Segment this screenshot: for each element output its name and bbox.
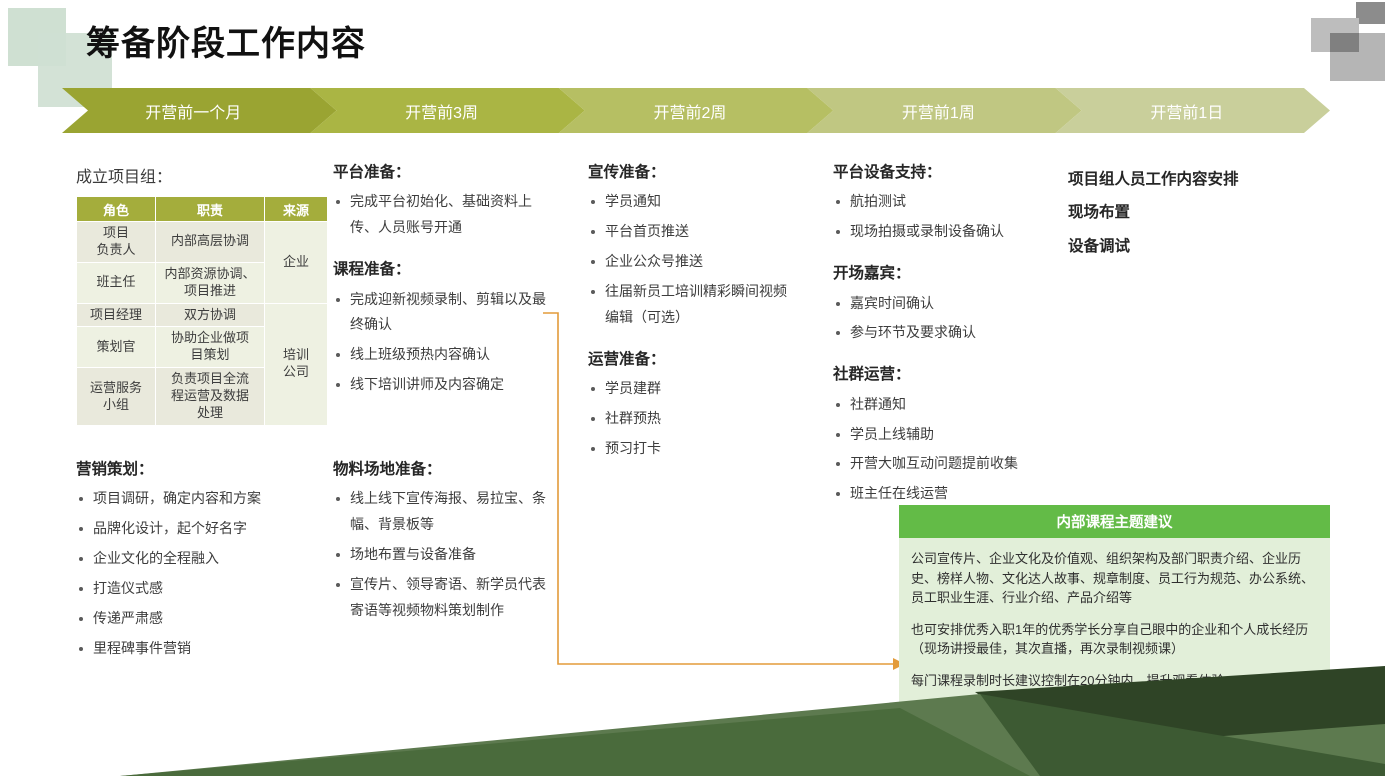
community-ops-item: 开营大咖互动问题提前收集: [833, 451, 1063, 477]
page-title: 筹备阶段工作内容: [86, 16, 366, 65]
callout-header: 内部课程主题建议: [899, 505, 1330, 538]
section-heading-project-team: 成立项目组：: [76, 163, 172, 187]
course-prep-item: 线下培训讲师及内容确定: [333, 372, 548, 398]
material-venue-list: 线上线下宣传海报、易拉宝、条幅、背景板等场地布置与设备准备宣传片、领导寄语、新学…: [333, 486, 548, 623]
section-heading-community-ops: 社群运营：: [833, 365, 1063, 384]
table-cell-duty: 内部资源协调、项目推进: [156, 262, 265, 303]
equipment-support-block: 平台设备支持： 航拍测试现场拍摄或录制设备确认 开场嘉宾： 嘉宾时间确认参与环节…: [833, 163, 1063, 511]
mountain-fore: [120, 708, 1030, 776]
marketing-list: 项目调研，确定内容和方案品牌化设计，起个好名字企业文化的全程融入打造仪式感传递严…: [76, 486, 326, 661]
marketing-item: 项目调研，确定内容和方案: [76, 486, 326, 512]
community-ops-item: 学员上线辅助: [833, 422, 1063, 448]
material-venue-item: 线上线下宣传海报、易拉宝、条幅、背景板等: [333, 486, 548, 538]
decor-square-gray-overlap: [1330, 33, 1359, 52]
community-ops-list: 社群通知学员上线辅助开营大咖互动问题提前收集班主任在线运营: [833, 392, 1063, 508]
equipment-support-item: 航拍测试: [833, 189, 1063, 215]
section-heading-equipment-support: 平台设备支持：: [833, 163, 1063, 182]
opening-guest-item: 参与环节及要求确认: [833, 320, 1063, 346]
section-heading-ops-prep: 运营准备：: [588, 350, 793, 369]
project-team-table: 角色职责来源 项目负责人内部高层协调企业班主任内部资源协调、项目推进项目经理双方…: [76, 196, 328, 426]
promotion-prep-item: 平台首页推送: [588, 219, 793, 245]
table-cell-source: 培训公司: [265, 303, 328, 425]
ops-prep-item: 学员建群: [588, 376, 793, 402]
marketing-block: 营销策划： 项目调研，确定内容和方案品牌化设计，起个好名字企业文化的全程融入打造…: [76, 460, 326, 666]
timeline-step-5[interactable]: 开营前1日: [1056, 88, 1330, 133]
table-cell-role: 策划官: [77, 327, 156, 368]
section-heading-marketing: 营销策划：: [76, 460, 326, 479]
equipment-support-item: 现场拍摄或录制设备确认: [833, 219, 1063, 245]
promotion-prep-item: 往届新员工培训精彩瞬间视频编辑（可选）: [588, 279, 793, 331]
community-ops-item: 班主任在线运营: [833, 481, 1063, 507]
promotion-prep-block: 宣传准备： 学员通知平台首页推送企业公众号推送往届新员工培训精彩瞬间视频编辑（可…: [588, 163, 793, 466]
community-ops-item: 社群通知: [833, 392, 1063, 418]
marketing-item: 打造仪式感: [76, 576, 326, 602]
final-day-line: 设备调试: [1068, 230, 1328, 263]
course-prep-item: 线上班级预热内容确认: [333, 342, 548, 368]
promotion-prep-list: 学员通知平台首页推送企业公众号推送往届新员工培训精彩瞬间视频编辑（可选）: [588, 189, 793, 330]
timeline-step-1[interactable]: 开营前一个月: [62, 88, 336, 133]
timeline-step-label: 开营前1周: [902, 99, 975, 123]
table-body: 项目负责人内部高层协调企业班主任内部资源协调、项目推进项目经理双方协调培训公司策…: [77, 222, 328, 426]
ops-prep-item: 社群预热: [588, 406, 793, 432]
decor-square-gray-1: [1356, 2, 1385, 24]
timeline-step-label: 开营前一个月: [145, 99, 241, 123]
equipment-support-list: 航拍测试现场拍摄或录制设备确认: [833, 189, 1063, 245]
timeline-step-label: 开营前1日: [1150, 99, 1223, 123]
marketing-item: 传递严肃感: [76, 606, 326, 632]
final-day-line: 项目组人员工作内容安排: [1068, 163, 1328, 196]
material-venue-block: 物料场地准备： 线上线下宣传海报、易拉宝、条幅、背景板等场地布置与设备准备宣传片…: [333, 460, 548, 628]
section-heading-course-prep: 课程准备：: [333, 260, 548, 279]
table-header-1: 角色: [77, 197, 156, 222]
ops-prep-list: 学员建群社群预热预习打卡: [588, 376, 793, 462]
table-header-3: 来源: [265, 197, 328, 222]
final-day-line: 现场布置: [1068, 196, 1328, 229]
table-cell-duty: 协助企业做项目策划: [156, 327, 265, 368]
platform-prep-block: 平台准备： 完成平台初始化、基础资料上传、人员账号开通 课程准备： 完成迎新视频…: [333, 163, 548, 402]
table-row: 项目负责人内部高层协调企业: [77, 222, 328, 263]
table-cell-duty: 内部高层协调: [156, 222, 265, 263]
platform-prep-list: 完成平台初始化、基础资料上传、人员账号开通: [333, 189, 548, 241]
timeline-step-4[interactable]: 开营前1周: [807, 88, 1081, 133]
course-prep-list: 完成迎新视频录制、剪辑以及最终确认线上班级预热内容确认线下培训讲师及内容确定: [333, 287, 548, 399]
table-cell-duty: 负责项目全流程运营及数据处理: [156, 368, 265, 426]
timeline-step-label: 开营前2周: [654, 99, 727, 123]
timeline-step-3[interactable]: 开营前2周: [559, 88, 833, 133]
opening-guest-item: 嘉宾时间确认: [833, 291, 1063, 317]
marketing-item: 企业文化的全程融入: [76, 546, 326, 572]
section-heading-platform-prep: 平台准备：: [333, 163, 548, 182]
material-venue-item: 宣传片、领导寄语、新学员代表寄语等视频物料策划制作: [333, 572, 548, 624]
ops-prep-item: 预习打卡: [588, 436, 793, 462]
opening-guest-list: 嘉宾时间确认参与环节及要求确认: [833, 291, 1063, 347]
timeline-step-2[interactable]: 开营前3周: [310, 88, 584, 133]
table-cell-role: 项目经理: [77, 303, 156, 327]
timeline-step-label: 开营前3周: [405, 99, 478, 123]
decor-mountains: [0, 646, 1385, 776]
table-header-row: 角色职责来源: [77, 197, 328, 222]
table-row: 项目经理双方协调培训公司: [77, 303, 328, 327]
section-heading-promotion-prep: 宣传准备：: [588, 163, 793, 182]
platform-prep-item: 完成平台初始化、基础资料上传、人员账号开通: [333, 189, 548, 241]
final-day-block: 项目组人员工作内容安排现场布置设备调试: [1068, 163, 1328, 263]
table-cell-role: 项目负责人: [77, 222, 156, 263]
section-heading-opening-guest: 开场嘉宾：: [833, 264, 1063, 283]
timeline-chevron-band: 开营前一个月开营前3周开营前2周开营前1周开营前1日: [62, 88, 1330, 133]
promotion-prep-item: 学员通知: [588, 189, 793, 215]
section-heading-material-venue: 物料场地准备：: [333, 460, 548, 479]
table-header-2: 职责: [156, 197, 265, 222]
table-cell-role: 运营服务小组: [77, 368, 156, 426]
material-venue-item: 场地布置与设备准备: [333, 542, 548, 568]
table-cell-role: 班主任: [77, 262, 156, 303]
table-cell-source: 企业: [265, 222, 328, 304]
promotion-prep-item: 企业公众号推送: [588, 249, 793, 275]
callout-paragraph: 公司宣传片、企业文化及价值观、组织架构及部门职责介绍、企业历史、榜样人物、文化达…: [911, 549, 1318, 608]
course-prep-item: 完成迎新视频录制、剪辑以及最终确认: [333, 287, 548, 339]
table-cell-duty: 双方协调: [156, 303, 265, 327]
marketing-item: 品牌化设计，起个好名字: [76, 516, 326, 542]
